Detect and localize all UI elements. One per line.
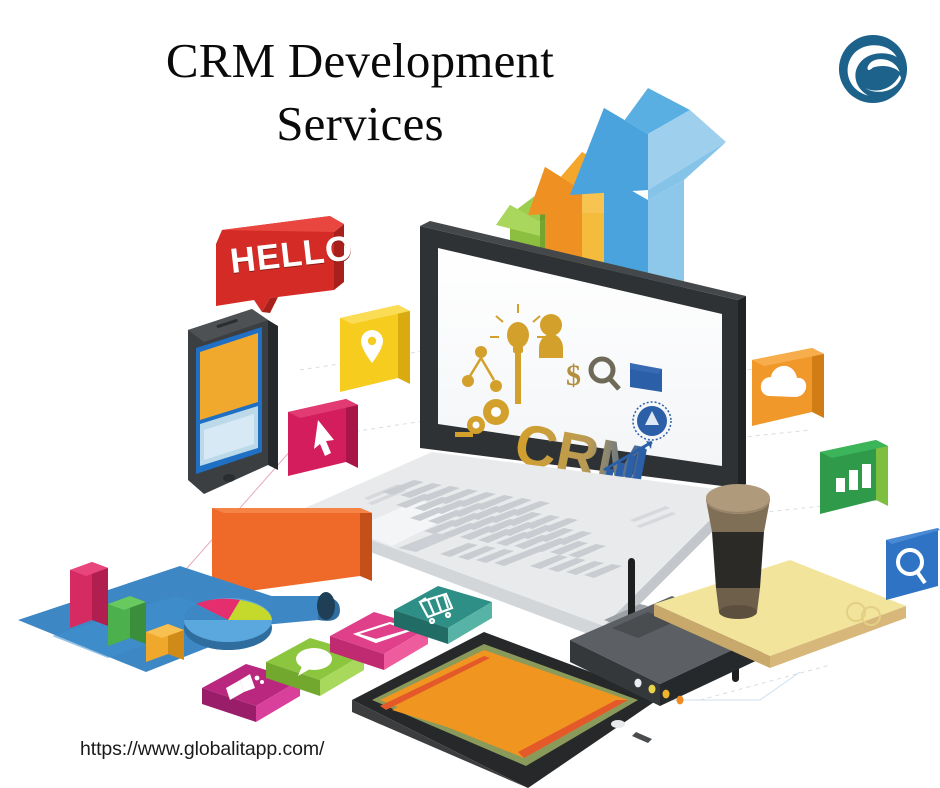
analytics-tile [820,440,888,514]
3d-pie-chart [184,598,272,650]
poster-canvas: $ CRM [0,0,940,788]
page-title: CRM Development Services [60,30,660,155]
bar-1 [70,562,108,628]
cloud-tile [752,348,824,426]
hello-bubble [216,216,344,313]
website-url[interactable]: https://www.globalitapp.com/ [80,738,324,761]
svg-text:$: $ [566,359,581,392]
dollar-icon: $ [566,359,581,392]
brand-logo[interactable] [836,32,910,106]
globalitapp-logo-icon [836,32,910,106]
bar-2 [108,596,146,646]
cursor-tile [288,399,358,476]
smartphone [188,309,278,494]
page-title-line2: Services [60,93,660,156]
search-tile [886,528,940,600]
orange-slab [212,508,372,596]
page-title-line1: CRM Development [166,33,554,88]
location-tile [340,305,410,392]
